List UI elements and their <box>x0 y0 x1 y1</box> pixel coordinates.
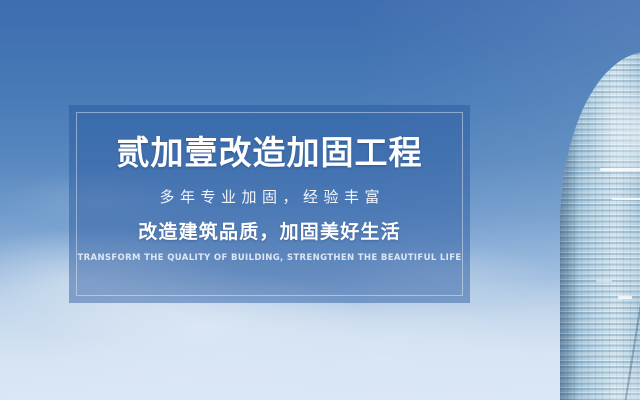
hero-banner: 贰加壹改造加固工程 多年专业加固，经验丰富 改造建筑品质，加固美好生活 TRAN… <box>0 0 640 400</box>
building-edge-shading <box>560 52 640 400</box>
skyscraper-photo <box>540 0 640 400</box>
page-title: 贰加壹改造加固工程 <box>117 133 423 173</box>
skyscraper-body <box>560 52 640 400</box>
panel-subtitle: 多年专业加固，经验丰富 <box>154 187 385 207</box>
panel-english-caption: TRANSFORM THE QUALITY OF BUILDING, STREN… <box>77 252 461 264</box>
panel-tagline: 改造建筑品质，加固美好生活 <box>138 219 401 245</box>
panel-content: 贰加壹改造加固工程 多年专业加固，经验丰富 改造建筑品质，加固美好生活 TRAN… <box>69 105 470 303</box>
headline-panel: 贰加壹改造加固工程 多年专业加固，经验丰富 改造建筑品质，加固美好生活 TRAN… <box>69 105 470 303</box>
